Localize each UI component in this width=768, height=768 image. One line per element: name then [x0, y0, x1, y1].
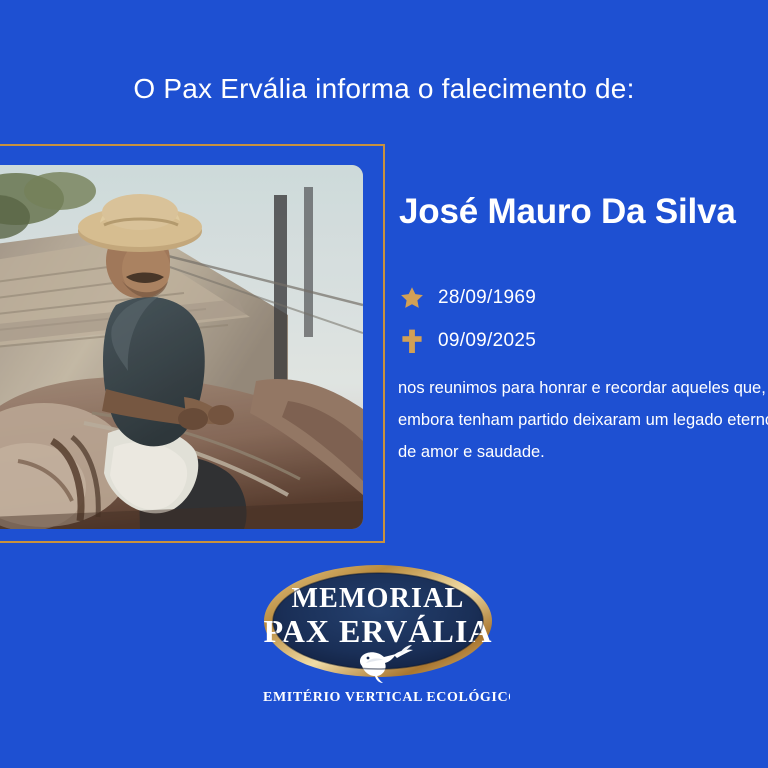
cross-icon: [399, 328, 425, 354]
logo-line-2: PAX ERVÁLIA: [264, 613, 493, 649]
death-date-row: 09/09/2025: [399, 327, 536, 355]
brand-logo: MEMORIAL PAX ERVÁLIA CEMITÉRIO VERTICAL …: [262, 563, 510, 709]
portrait-photo: [0, 165, 363, 529]
deceased-name: José Mauro Da Silva: [399, 192, 736, 232]
logo-tagline: CEMITÉRIO VERTICAL ECOLÓGICO: [262, 688, 510, 705]
logo-line-1: MEMORIAL: [292, 583, 465, 614]
memorial-message: nos reunimos para honrar e recordar aque…: [398, 372, 768, 468]
memorial-announcement-card: O Pax Ervália informa o falecimento de:: [0, 0, 768, 768]
page-title: O Pax Ervália informa o falecimento de:: [0, 73, 768, 105]
birth-date-value: 28/09/1969: [438, 287, 536, 309]
death-date-value: 09/09/2025: [438, 330, 536, 352]
star-icon: [399, 285, 425, 311]
birth-date-row: 28/09/1969: [399, 284, 536, 312]
